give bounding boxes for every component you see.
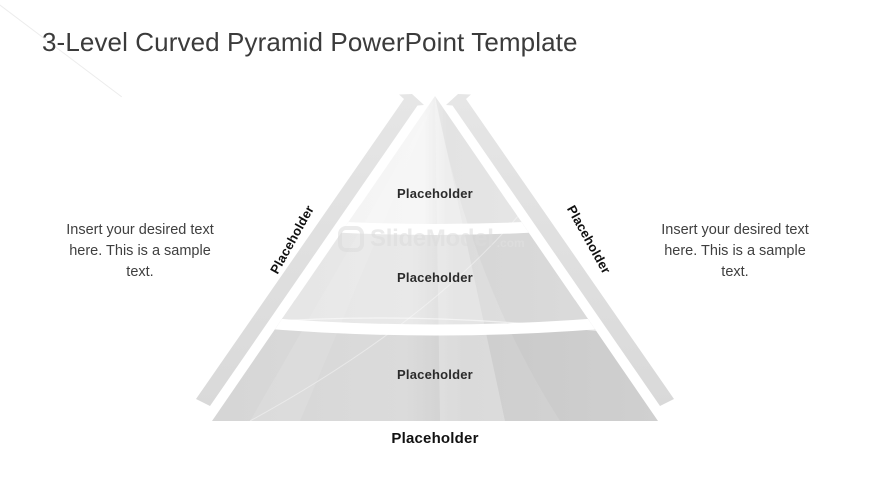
pyramid-tier-2-label[interactable]: Placeholder: [335, 270, 535, 285]
slide-canvas: 3-Level Curved Pyramid PowerPoint Templa…: [0, 0, 870, 489]
right-description-text: Insert your desired text here. This is a…: [650, 220, 820, 283]
pyramid-tier-1-shape: [150, 80, 720, 231]
left-description-text: Insert your desired text here. This is a…: [55, 220, 225, 283]
pyramid-tier-1-label[interactable]: Placeholder: [335, 186, 535, 201]
pyramid-tier-3-label[interactable]: Placeholder: [335, 367, 535, 382]
pyramid-base-label[interactable]: Placeholder: [335, 430, 535, 447]
